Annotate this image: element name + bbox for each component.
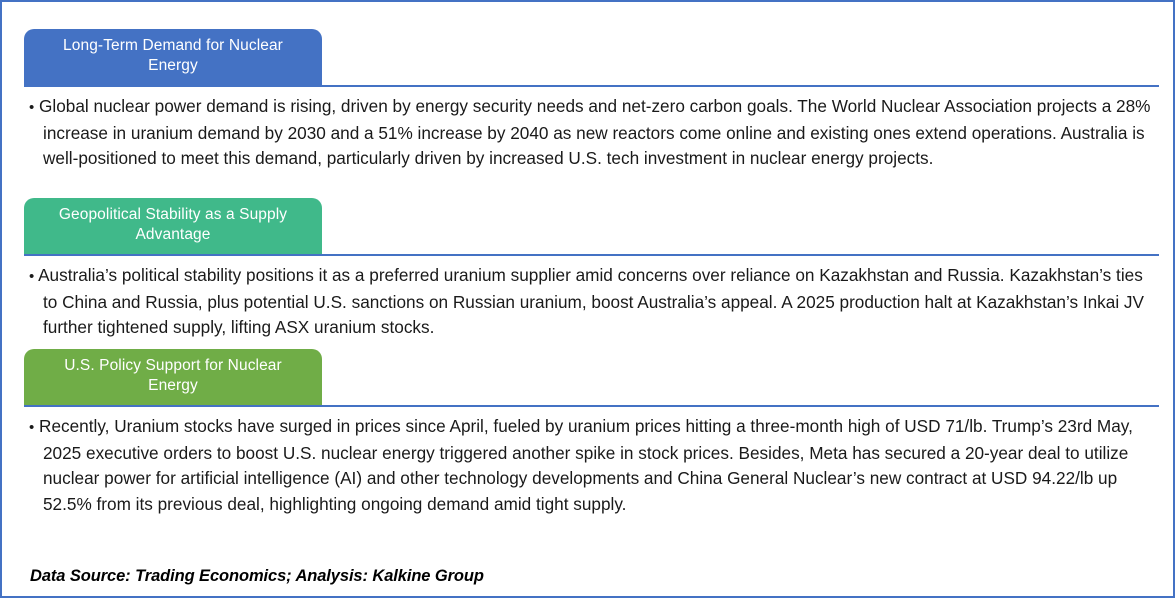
section-us-policy-support: U.S. Policy Support for Nuclear Energy •… [2, 349, 1173, 517]
section-heading-row: Long-Term Demand for Nuclear Energy [2, 29, 1173, 87]
section-heading-row: Geopolitical Stability as a Supply Advan… [2, 198, 1173, 256]
section-body: • Australia’s political stability positi… [2, 256, 1173, 341]
section-divider-rule [24, 85, 1159, 87]
section-divider-rule [24, 405, 1159, 407]
body-text: Global nuclear power demand is rising, d… [39, 96, 1150, 168]
body-paragraph: • Australia’s political stability positi… [29, 263, 1153, 341]
section-heading-pill: Geopolitical Stability as a Supply Advan… [24, 198, 322, 254]
section-heading-pill: Long-Term Demand for Nuclear Energy [24, 29, 322, 85]
section-body: • Global nuclear power demand is rising,… [2, 87, 1173, 172]
body-paragraph: • Recently, Uranium stocks have surged i… [29, 414, 1153, 517]
body-paragraph: • Global nuclear power demand is rising,… [29, 94, 1153, 172]
bullet-marker: • [29, 268, 34, 285]
section-body: • Recently, Uranium stocks have surged i… [2, 407, 1173, 517]
bullet-marker: • [29, 99, 34, 116]
section-long-term-demand: Long-Term Demand for Nuclear Energy • Gl… [2, 29, 1173, 172]
bullet-marker: • [29, 419, 34, 436]
body-text: Recently, Uranium stocks have surged in … [39, 416, 1133, 514]
slide-content: Long-Term Demand for Nuclear Energy • Gl… [2, 2, 1173, 596]
section-geopolitical-stability: Geopolitical Stability as a Supply Advan… [2, 198, 1173, 341]
section-heading-pill: U.S. Policy Support for Nuclear Energy [24, 349, 322, 405]
section-heading-row: U.S. Policy Support for Nuclear Energy [2, 349, 1173, 407]
slide-canvas: Long-Term Demand for Nuclear Energy • Gl… [0, 0, 1175, 598]
source-attribution: Data Source: Trading Economics; Analysis… [30, 567, 484, 586]
body-text: Australia’s political stability position… [38, 265, 1144, 337]
